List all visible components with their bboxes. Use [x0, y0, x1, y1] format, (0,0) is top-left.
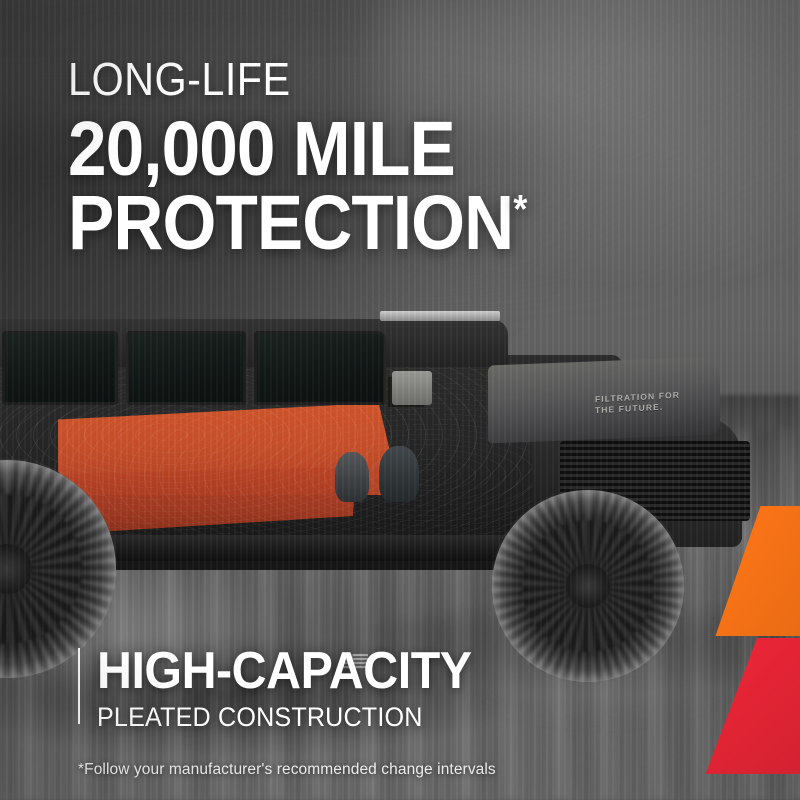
vehicle-passenger-rear — [379, 446, 419, 502]
headline-line-1: 20,000 MILE — [68, 114, 680, 186]
offroad-vehicle: K&N® — [0, 235, 800, 655]
vertical-rule-divider — [78, 648, 80, 724]
headline-kicker: LONG-LIFE — [68, 56, 680, 102]
headline-line-2-text: PROTECTION — [68, 180, 513, 266]
subhead-block: HIGH-CAPACITY PLEATED CONSTRUCTION — [78, 645, 718, 731]
front-wheel-hub — [566, 564, 610, 608]
vehicle-front-door-window — [254, 331, 386, 405]
subhead-text-group: HIGH-CAPACITY PLEATED CONSTRUCTION — [78, 645, 718, 731]
headline-line-2: PROTECTION* — [68, 188, 680, 260]
headline-asterisk: * — [513, 187, 526, 231]
advertisement-banner: K&N® FILTRATION FOR THE FUTURE. LONG-LIF… — [0, 0, 800, 800]
vehicle-rear-door-window — [126, 331, 246, 405]
footnote-disclaimer: *Follow your manufacturer's recommended … — [78, 761, 496, 779]
vehicle-side-mirror — [392, 371, 432, 405]
vehicle-light-bar — [380, 311, 500, 321]
vehicle-passenger-rear-2 — [335, 452, 369, 502]
subhead-subtitle: PLEATED CONSTRUCTION — [97, 704, 675, 731]
vehicle-rear-window — [2, 331, 118, 405]
subhead-title: HIGH-CAPACITY — [97, 645, 675, 697]
vehicle-hood-decal: FILTRATION FOR THE FUTURE. — [595, 390, 680, 416]
headline-block: LONG-LIFE 20,000 MILE PROTECTION* — [68, 56, 748, 259]
